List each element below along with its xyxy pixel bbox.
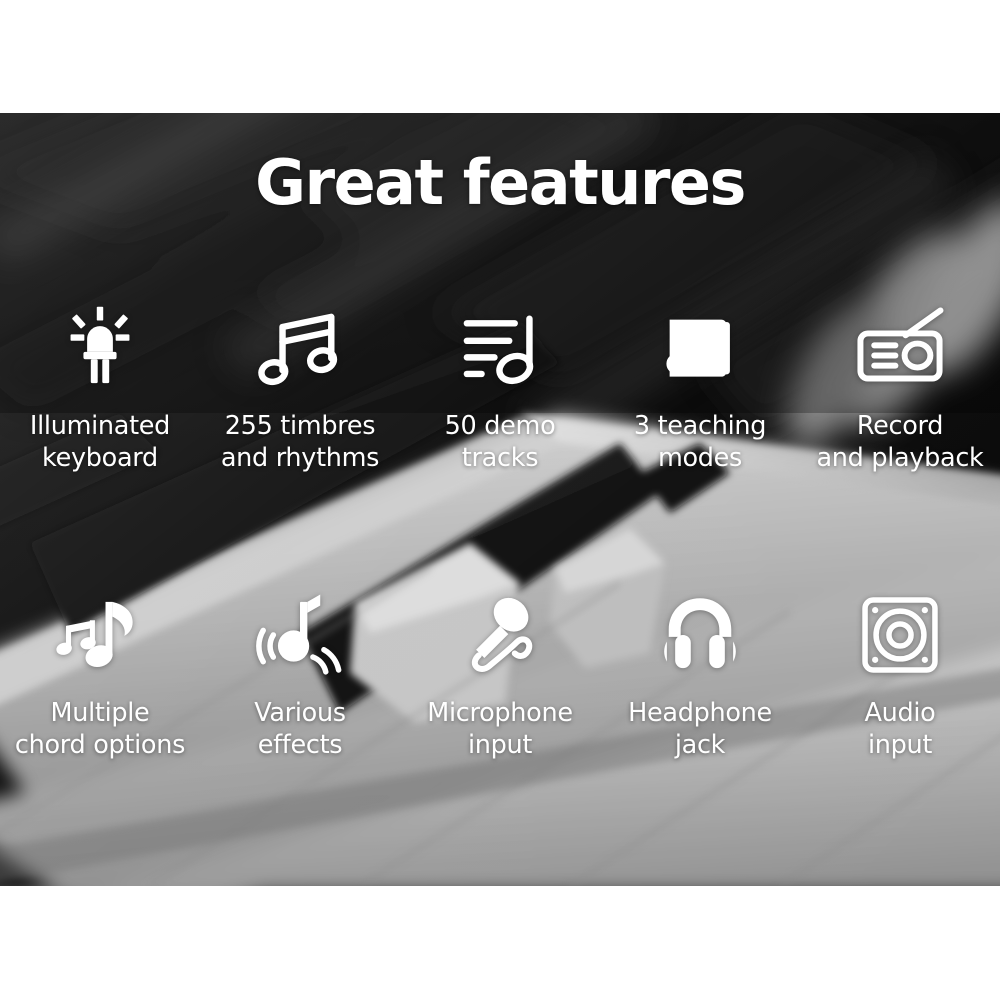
- feature-infographic: Great features Il: [0, 0, 1000, 1000]
- feature-label: Illuminated keyboard: [30, 410, 170, 474]
- feature-label: 50 demo tracks: [445, 410, 556, 474]
- feature-item-various-effects: Various effects: [200, 585, 400, 761]
- feature-row-2: Multiple chord options: [0, 585, 1000, 761]
- beamed-eighth-notes-icon: [254, 300, 346, 396]
- feature-row-1: Illuminated keyboard 255 timbres and rhy…: [0, 300, 1000, 474]
- feature-item-timbres-rhythms: 255 timbres and rhythms: [200, 300, 400, 474]
- book-icon: [654, 300, 746, 396]
- piano-keyboard-background-photo: [0, 113, 1000, 886]
- feature-label: Microphone input: [427, 697, 572, 761]
- feature-item-audio-input: Audio input: [800, 585, 1000, 761]
- radio-icon: [852, 300, 948, 396]
- page-title: Great features: [0, 152, 1000, 214]
- feature-item-microphone-input: Microphone input: [400, 585, 600, 761]
- feature-label: Multiple chord options: [15, 697, 185, 761]
- feature-label: 3 teaching modes: [634, 410, 766, 474]
- speaker-driver-icon: [854, 585, 946, 681]
- feature-item-demo-tracks: 50 demo tracks: [400, 300, 600, 474]
- feature-label: Audio input: [865, 697, 936, 761]
- feature-item-chord-options: Multiple chord options: [0, 585, 200, 761]
- vibrating-note-icon: [252, 585, 348, 681]
- light-bulb-icon: [54, 300, 146, 396]
- feature-label: Record and playback: [816, 410, 983, 474]
- feature-item-illuminated-keyboard: Illuminated keyboard: [0, 300, 200, 474]
- music-notes-icon: [54, 585, 146, 681]
- feature-item-teaching-modes: 3 teaching modes: [600, 300, 800, 474]
- feature-item-headphone-jack: Headphone jack: [600, 585, 800, 761]
- feature-label: Various effects: [254, 697, 346, 761]
- piano-keys-illustration: [0, 113, 1000, 886]
- headphones-icon: [654, 585, 746, 681]
- feature-label: Headphone jack: [628, 697, 772, 761]
- microphone-icon: [454, 585, 546, 681]
- feature-label: 255 timbres and rhythms: [221, 410, 379, 474]
- note-with-lines-icon: [454, 300, 546, 396]
- feature-item-record-playback: Record and playback: [800, 300, 1000, 474]
